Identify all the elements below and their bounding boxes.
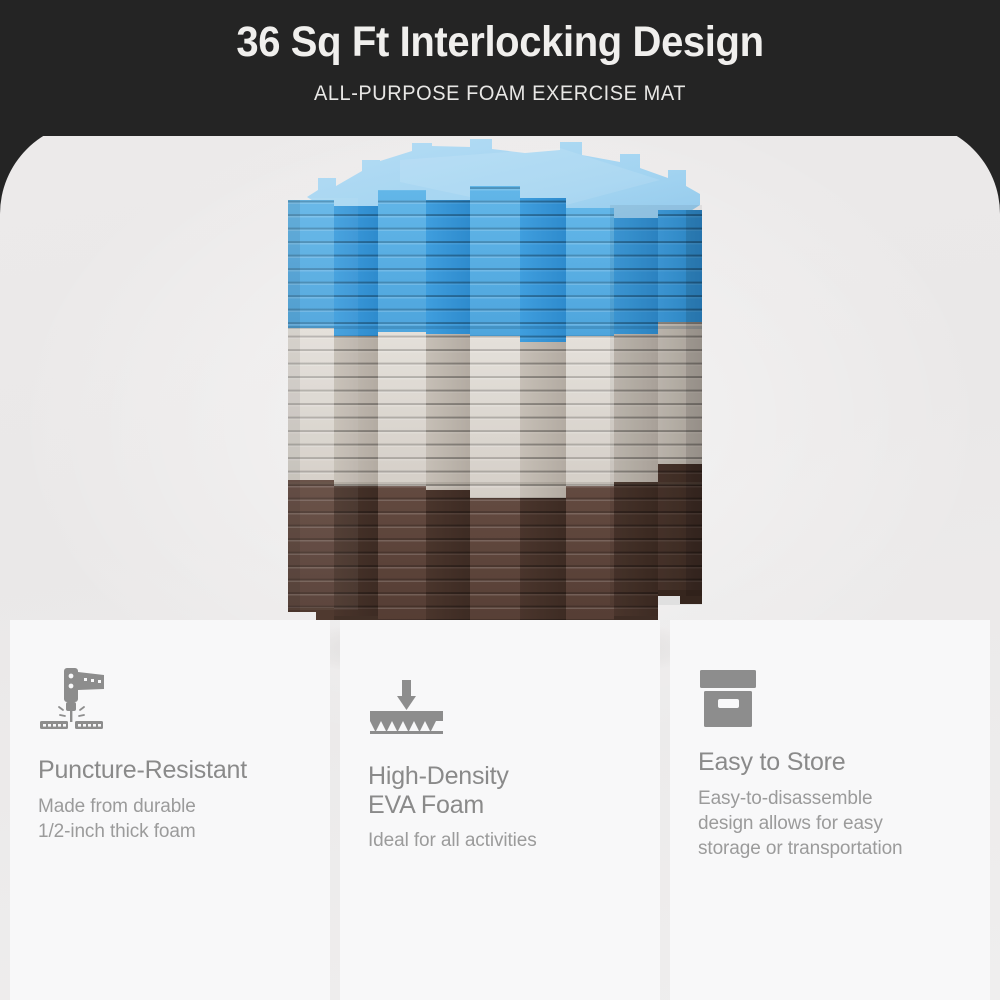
feature-card-easy-to-store: Easy to Store Easy-to-disassemble design… xyxy=(670,620,990,1000)
storage-box-icon xyxy=(698,656,962,730)
header-bar: 36 Sq Ft Interlocking Design ALL-PURPOSE… xyxy=(0,0,1000,136)
feature-card-description: Ideal for all activities xyxy=(368,828,632,853)
feature-card-description: Easy-to-disassemble design allows for ea… xyxy=(698,786,962,862)
stack-columns xyxy=(288,186,702,666)
tile-column-6 xyxy=(520,198,566,658)
feature-card-title: High-Density EVA Foam xyxy=(368,762,632,819)
drill-puncture-icon xyxy=(38,656,302,730)
feature-card-title: Easy to Store xyxy=(698,748,962,777)
feature-card-title: Puncture-Resistant xyxy=(38,756,302,785)
feature-card-high-density-eva-foam: High-Density EVA Foam Ideal for all acti… xyxy=(340,620,660,1000)
tile-column-5 xyxy=(470,186,520,666)
page-subtitle: ALL-PURPOSE FOAM EXERCISE MAT xyxy=(25,82,975,106)
feature-cards: Puncture-Resistant Made from durable 1/2… xyxy=(0,620,1000,1000)
page-title: 36 Sq Ft Interlocking Design xyxy=(35,18,965,67)
feature-card-puncture-resistant: Puncture-Resistant Made from durable 1/2… xyxy=(10,620,330,1000)
tile-column-4 xyxy=(426,200,470,644)
compression-foam-icon xyxy=(368,680,632,736)
tile-column-7 xyxy=(566,208,614,642)
feature-card-description: Made from durable 1/2-inch thick foam xyxy=(38,794,302,845)
tile-column-3 xyxy=(378,190,426,636)
product-infographic: 36 Sq Ft Interlocking Design ALL-PURPOSE… xyxy=(0,0,1000,1000)
